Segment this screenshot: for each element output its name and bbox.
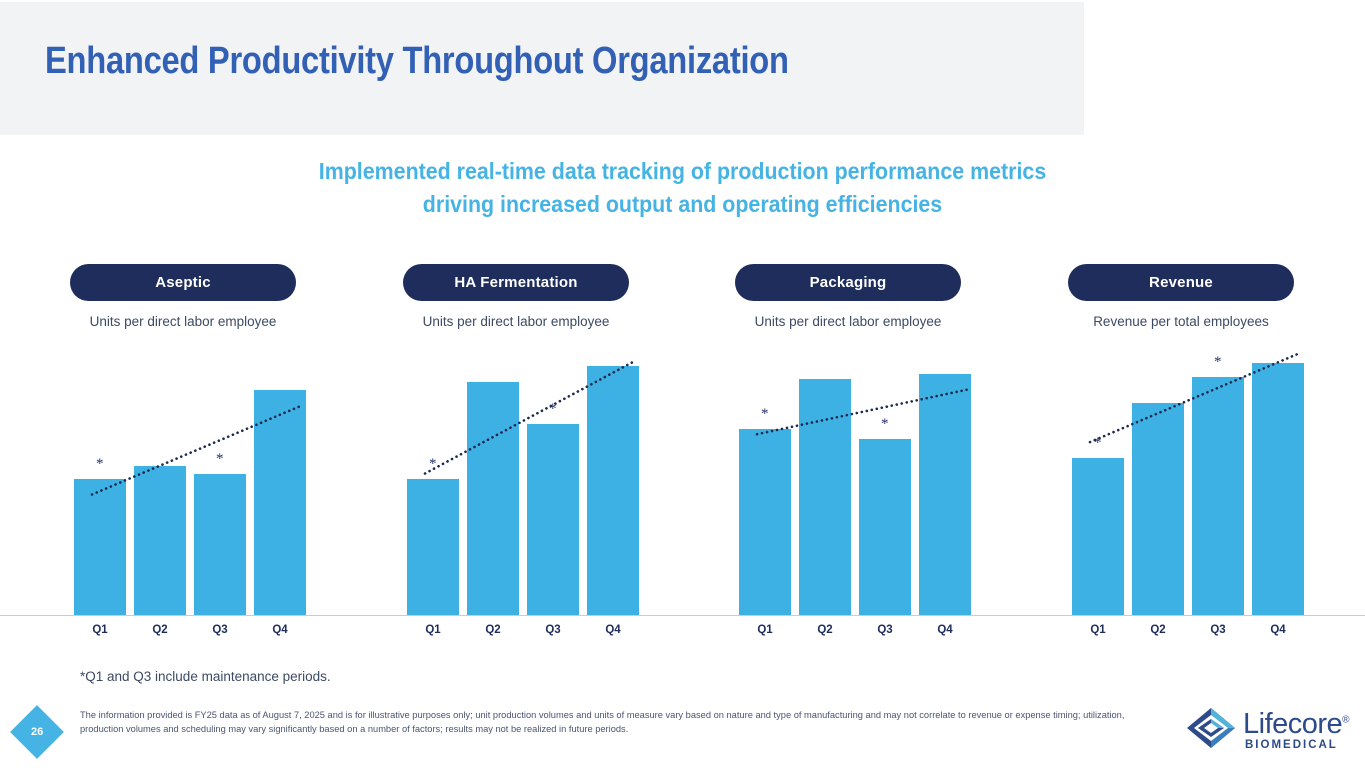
trend-line <box>17 340 349 620</box>
chart-panel-ha-fermentation: HA FermentationUnits per direct labor em… <box>350 264 682 329</box>
plot-area: ** <box>682 340 1014 620</box>
x-label-q3: Q3 <box>859 624 911 636</box>
chart-panel-revenue: RevenueRevenue per total employees <box>1015 264 1347 329</box>
chart-panel-packaging: PackagingUnits per direct labor employee <box>682 264 1014 329</box>
lifecore-diamond-mark <box>1185 706 1237 750</box>
plot-area: ** <box>1015 340 1347 620</box>
panel-title-pill: Packaging <box>735 264 961 301</box>
x-label-q2: Q2 <box>467 624 519 636</box>
x-axis-labels: Q1Q2Q3Q4 <box>1015 624 1347 644</box>
chart-panels: AsepticUnits per direct labor employee**… <box>0 0 1365 768</box>
plot-area: ** <box>350 340 682 620</box>
footnote: *Q1 and Q3 include maintenance periods. <box>80 669 331 684</box>
x-label-q1: Q1 <box>407 624 459 636</box>
x-axis-labels: Q1Q2Q3Q4 <box>350 624 682 644</box>
panel-subtitle: Revenue per total employees <box>1015 314 1347 329</box>
x-label-q4: Q4 <box>587 624 639 636</box>
baseline-axis <box>0 615 1365 616</box>
panel-title-pill: Aseptic <box>70 264 296 301</box>
x-label-q3: Q3 <box>527 624 579 636</box>
panel-title-pill: Revenue <box>1068 264 1294 301</box>
x-axis-labels: Q1Q2Q3Q4 <box>682 624 1014 644</box>
x-label-q4: Q4 <box>919 624 971 636</box>
x-label-q2: Q2 <box>1132 624 1184 636</box>
panel-subtitle: Units per direct labor employee <box>17 314 349 329</box>
logo-tagline: BIOMEDICAL <box>1245 739 1338 751</box>
chart-panel-aseptic: AsepticUnits per direct labor employee <box>17 264 349 329</box>
panel-subtitle: Units per direct labor employee <box>350 314 682 329</box>
trend-line <box>682 340 1014 620</box>
x-axis-labels: Q1Q2Q3Q4 <box>17 624 349 644</box>
lifecore-logo: Lifecore® BIOMEDICAL <box>1185 706 1350 754</box>
page-number: 26 <box>31 726 43 738</box>
x-label-q4: Q4 <box>1252 624 1304 636</box>
x-label-q3: Q3 <box>1192 624 1244 636</box>
plot-area: ** <box>17 340 349 620</box>
trend-line <box>1015 340 1347 620</box>
logo-wordmark: Lifecore® <box>1243 708 1349 741</box>
x-label-q3: Q3 <box>194 624 246 636</box>
x-label-q2: Q2 <box>134 624 186 636</box>
disclaimer-text: The information provided is FY25 data as… <box>80 709 1150 736</box>
x-label-q4: Q4 <box>254 624 306 636</box>
logo-registered: ® <box>1342 714 1349 725</box>
trend-line <box>350 340 682 620</box>
slide: Enhanced Productivity Throughout Organiz… <box>0 0 1365 768</box>
x-label-q1: Q1 <box>74 624 126 636</box>
x-label-q1: Q1 <box>1072 624 1124 636</box>
x-label-q2: Q2 <box>799 624 851 636</box>
panel-subtitle: Units per direct labor employee <box>682 314 1014 329</box>
panel-title-pill: HA Fermentation <box>403 264 629 301</box>
logo-name: Lifecore <box>1243 708 1342 740</box>
x-label-q1: Q1 <box>739 624 791 636</box>
